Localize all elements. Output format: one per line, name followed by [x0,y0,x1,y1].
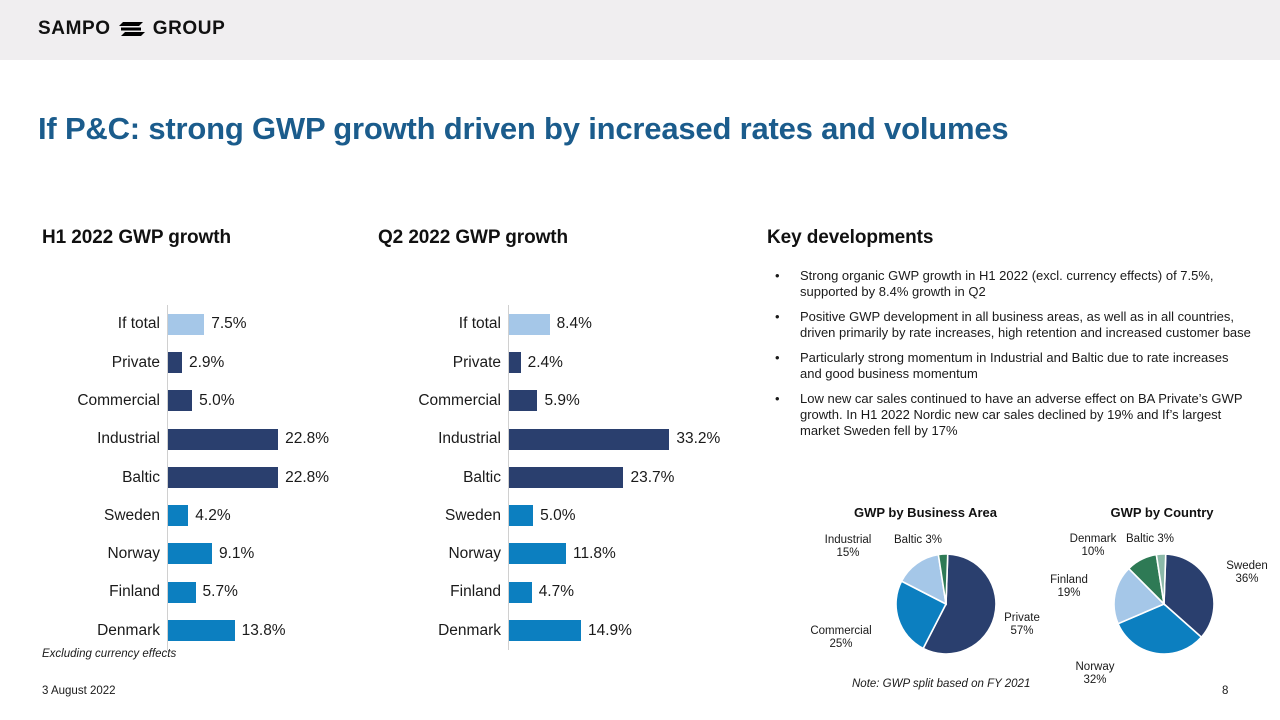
pie-title: GWP by Business Area [843,505,1008,520]
bullet-marker-icon: • [770,391,800,439]
bar-category-label: Industrial [40,431,160,447]
bar [168,467,278,488]
bar [509,582,532,603]
logo-text-sampo: SAMPO [38,18,111,40]
bar-and-value: 14.9% [509,620,632,641]
page-title: If P&C: strong GWP growth driven by incr… [38,112,1238,146]
bar-and-value: 33.2% [509,429,720,450]
bar-row: Private2.9% [40,343,370,381]
bar-value-label: 5.9% [544,393,579,409]
bar [509,543,566,564]
bullet-text: Positive GWP development in all business… [800,309,1252,341]
bar [168,620,235,641]
bar-row: If total7.5% [40,305,370,343]
bar-category-label: Baltic [376,470,501,486]
sampo-s-mark-icon [119,19,145,39]
bar-and-value: 13.8% [168,620,286,641]
pie-label-denmark: Denmark 10% [1062,533,1124,559]
bar-category-label: Sweden [40,508,160,524]
pie-label-baltic: Baltic 3% [894,534,942,547]
pie-label-finland: Finland 19% [1038,574,1100,600]
pie-label-industrial: Industrial 15% [810,534,886,560]
pie-label-baltic: Baltic 3% [1126,533,1174,546]
bar-value-label: 2.9% [189,355,224,371]
bar-row: Denmark13.8% [40,611,370,649]
heading-key-developments: Key developments [767,227,933,249]
bar-category-label: Commercial [376,393,501,409]
pie-chart-gwp-by-business-area: GWP by Business Area Industrial 15% Balt… [800,505,1050,705]
pie-svg [894,552,998,656]
bar-and-value: 5.0% [509,505,575,526]
bar-and-value: 9.1% [168,543,254,564]
pie-title: GWP by Country [1072,505,1252,520]
bullet-marker-icon: • [770,268,800,300]
bar [168,314,204,335]
bullet-text: Particularly strong momentum in Industri… [800,350,1252,382]
bar [168,390,192,411]
bar-category-label: Norway [376,546,501,562]
bar [509,467,623,488]
bar-category-label: Norway [40,546,160,562]
logo-text-group: GROUP [153,18,226,40]
bar-category-label: If total [376,316,501,332]
bullet-text: Low new car sales continued to have an a… [800,391,1252,439]
bar-category-label: Industrial [376,431,501,447]
bar [509,429,669,450]
bar-and-value: 22.8% [168,467,329,488]
bar-row: Baltic23.7% [376,458,706,496]
bar-and-value: 22.8% [168,429,329,450]
bar-category-label: Sweden [376,508,501,524]
bar-and-value: 2.9% [168,352,224,373]
bar-category-label: Private [40,355,160,371]
slide-root: SAMPO GROUP If P&C: strong GWP growth dr… [0,0,1280,720]
bar-row: Finland4.7% [376,573,706,611]
pie-label-sweden: Sweden 36% [1218,560,1276,586]
bar-row: Industrial33.2% [376,420,706,458]
bar-and-value: 5.9% [509,390,580,411]
bar-chart-h1-gwp-growth: If total7.5%Private2.9%Commercial5.0%Ind… [40,305,370,650]
bar-and-value: 2.4% [509,352,563,373]
bar-value-label: 14.9% [588,623,632,639]
footer-date: 3 August 2022 [42,685,116,697]
bar-category-label: Finland [376,584,501,600]
bullet-item: •Strong organic GWP growth in H1 2022 (e… [770,268,1252,300]
bar-row: Norway9.1% [40,535,370,573]
bar-value-label: 5.0% [540,508,575,524]
heading-h1-gwp-growth: H1 2022 GWP growth [42,227,231,249]
bar-value-label: 13.8% [242,623,286,639]
bullet-marker-icon: • [770,309,800,341]
bar-category-label: Private [376,355,501,371]
bar-and-value: 4.7% [509,582,574,603]
bar-row: Baltic22.8% [40,458,370,496]
bar [168,352,182,373]
bullet-item: •Particularly strong momentum in Industr… [770,350,1252,382]
bullet-item: •Low new car sales continued to have an … [770,391,1252,439]
bar [509,505,533,526]
bar-value-label: 9.1% [219,546,254,562]
bar-category-label: Commercial [40,393,160,409]
bar-and-value: 5.0% [168,390,234,411]
bar [509,314,550,335]
bar [509,352,521,373]
bar-category-label: Baltic [40,470,160,486]
bullet-text: Strong organic GWP growth in H1 2022 (ex… [800,268,1252,300]
bar-value-label: 22.8% [285,470,329,486]
bar-value-label: 11.8% [573,546,616,562]
bar-value-label: 7.5% [211,316,246,332]
chart-footnote: Excluding currency effects [42,648,176,660]
bar-value-label: 5.0% [199,393,234,409]
pie-svg [1112,552,1216,656]
bar-value-label: 5.7% [203,584,238,600]
bar-and-value: 7.5% [168,314,247,335]
pie-label-commercial: Commercial 25% [797,625,885,651]
pie-chart-gwp-by-country: GWP by Country Denmark 10% Baltic 3% Fin… [1050,505,1280,705]
bar-row: Sweden4.2% [40,497,370,535]
pie-label-private: Private 57% [998,612,1046,638]
bar-category-label: Denmark [376,623,501,639]
bar-category-label: If total [40,316,160,332]
bar-row: Private2.4% [376,343,706,381]
bullet-marker-icon: • [770,350,800,382]
bar-value-label: 2.4% [528,355,563,371]
footer-page-number: 8 [1222,685,1228,697]
bar-and-value: 4.2% [168,505,231,526]
bar-row: Finland5.7% [40,573,370,611]
header-band: SAMPO GROUP [0,0,1280,60]
bar-chart-q2-gwp-growth: If total8.4%Private2.4%Commercial5.9%Ind… [376,305,706,650]
heading-q2-gwp-growth: Q2 2022 GWP growth [378,227,568,249]
bar [168,543,212,564]
bar-row: Denmark14.9% [376,611,706,649]
bar [168,582,196,603]
bar-row: Commercial5.9% [376,382,706,420]
sampo-group-logo: SAMPO GROUP [38,18,225,40]
bar-and-value: 5.7% [168,582,238,603]
bar-and-value: 11.8% [509,543,616,564]
bar-category-label: Finland [40,584,160,600]
bar-row: Norway11.8% [376,535,706,573]
pie-note: Note: GWP split based on FY 2021 [852,678,1030,690]
bar-and-value: 8.4% [509,314,592,335]
key-developments-list: •Strong organic GWP growth in H1 2022 (e… [770,268,1252,448]
bar [168,429,278,450]
bar [509,620,581,641]
bar-value-label: 4.2% [195,508,230,524]
bar-value-label: 33.2% [676,431,720,447]
bar-row: Industrial22.8% [40,420,370,458]
bar-value-label: 4.7% [539,584,574,600]
bar-value-label: 23.7% [630,470,674,486]
bar-row: Sweden5.0% [376,497,706,535]
bullet-item: •Positive GWP development in all busines… [770,309,1252,341]
bar-value-label: 8.4% [557,316,592,332]
bar [509,390,537,411]
pie-label-norway: Norway 32% [1064,661,1126,687]
bar-category-label: Denmark [40,623,160,639]
bar [168,505,188,526]
bar-and-value: 23.7% [509,467,674,488]
bar-row: If total8.4% [376,305,706,343]
bar-row: Commercial5.0% [40,382,370,420]
bar-value-label: 22.8% [285,431,329,447]
